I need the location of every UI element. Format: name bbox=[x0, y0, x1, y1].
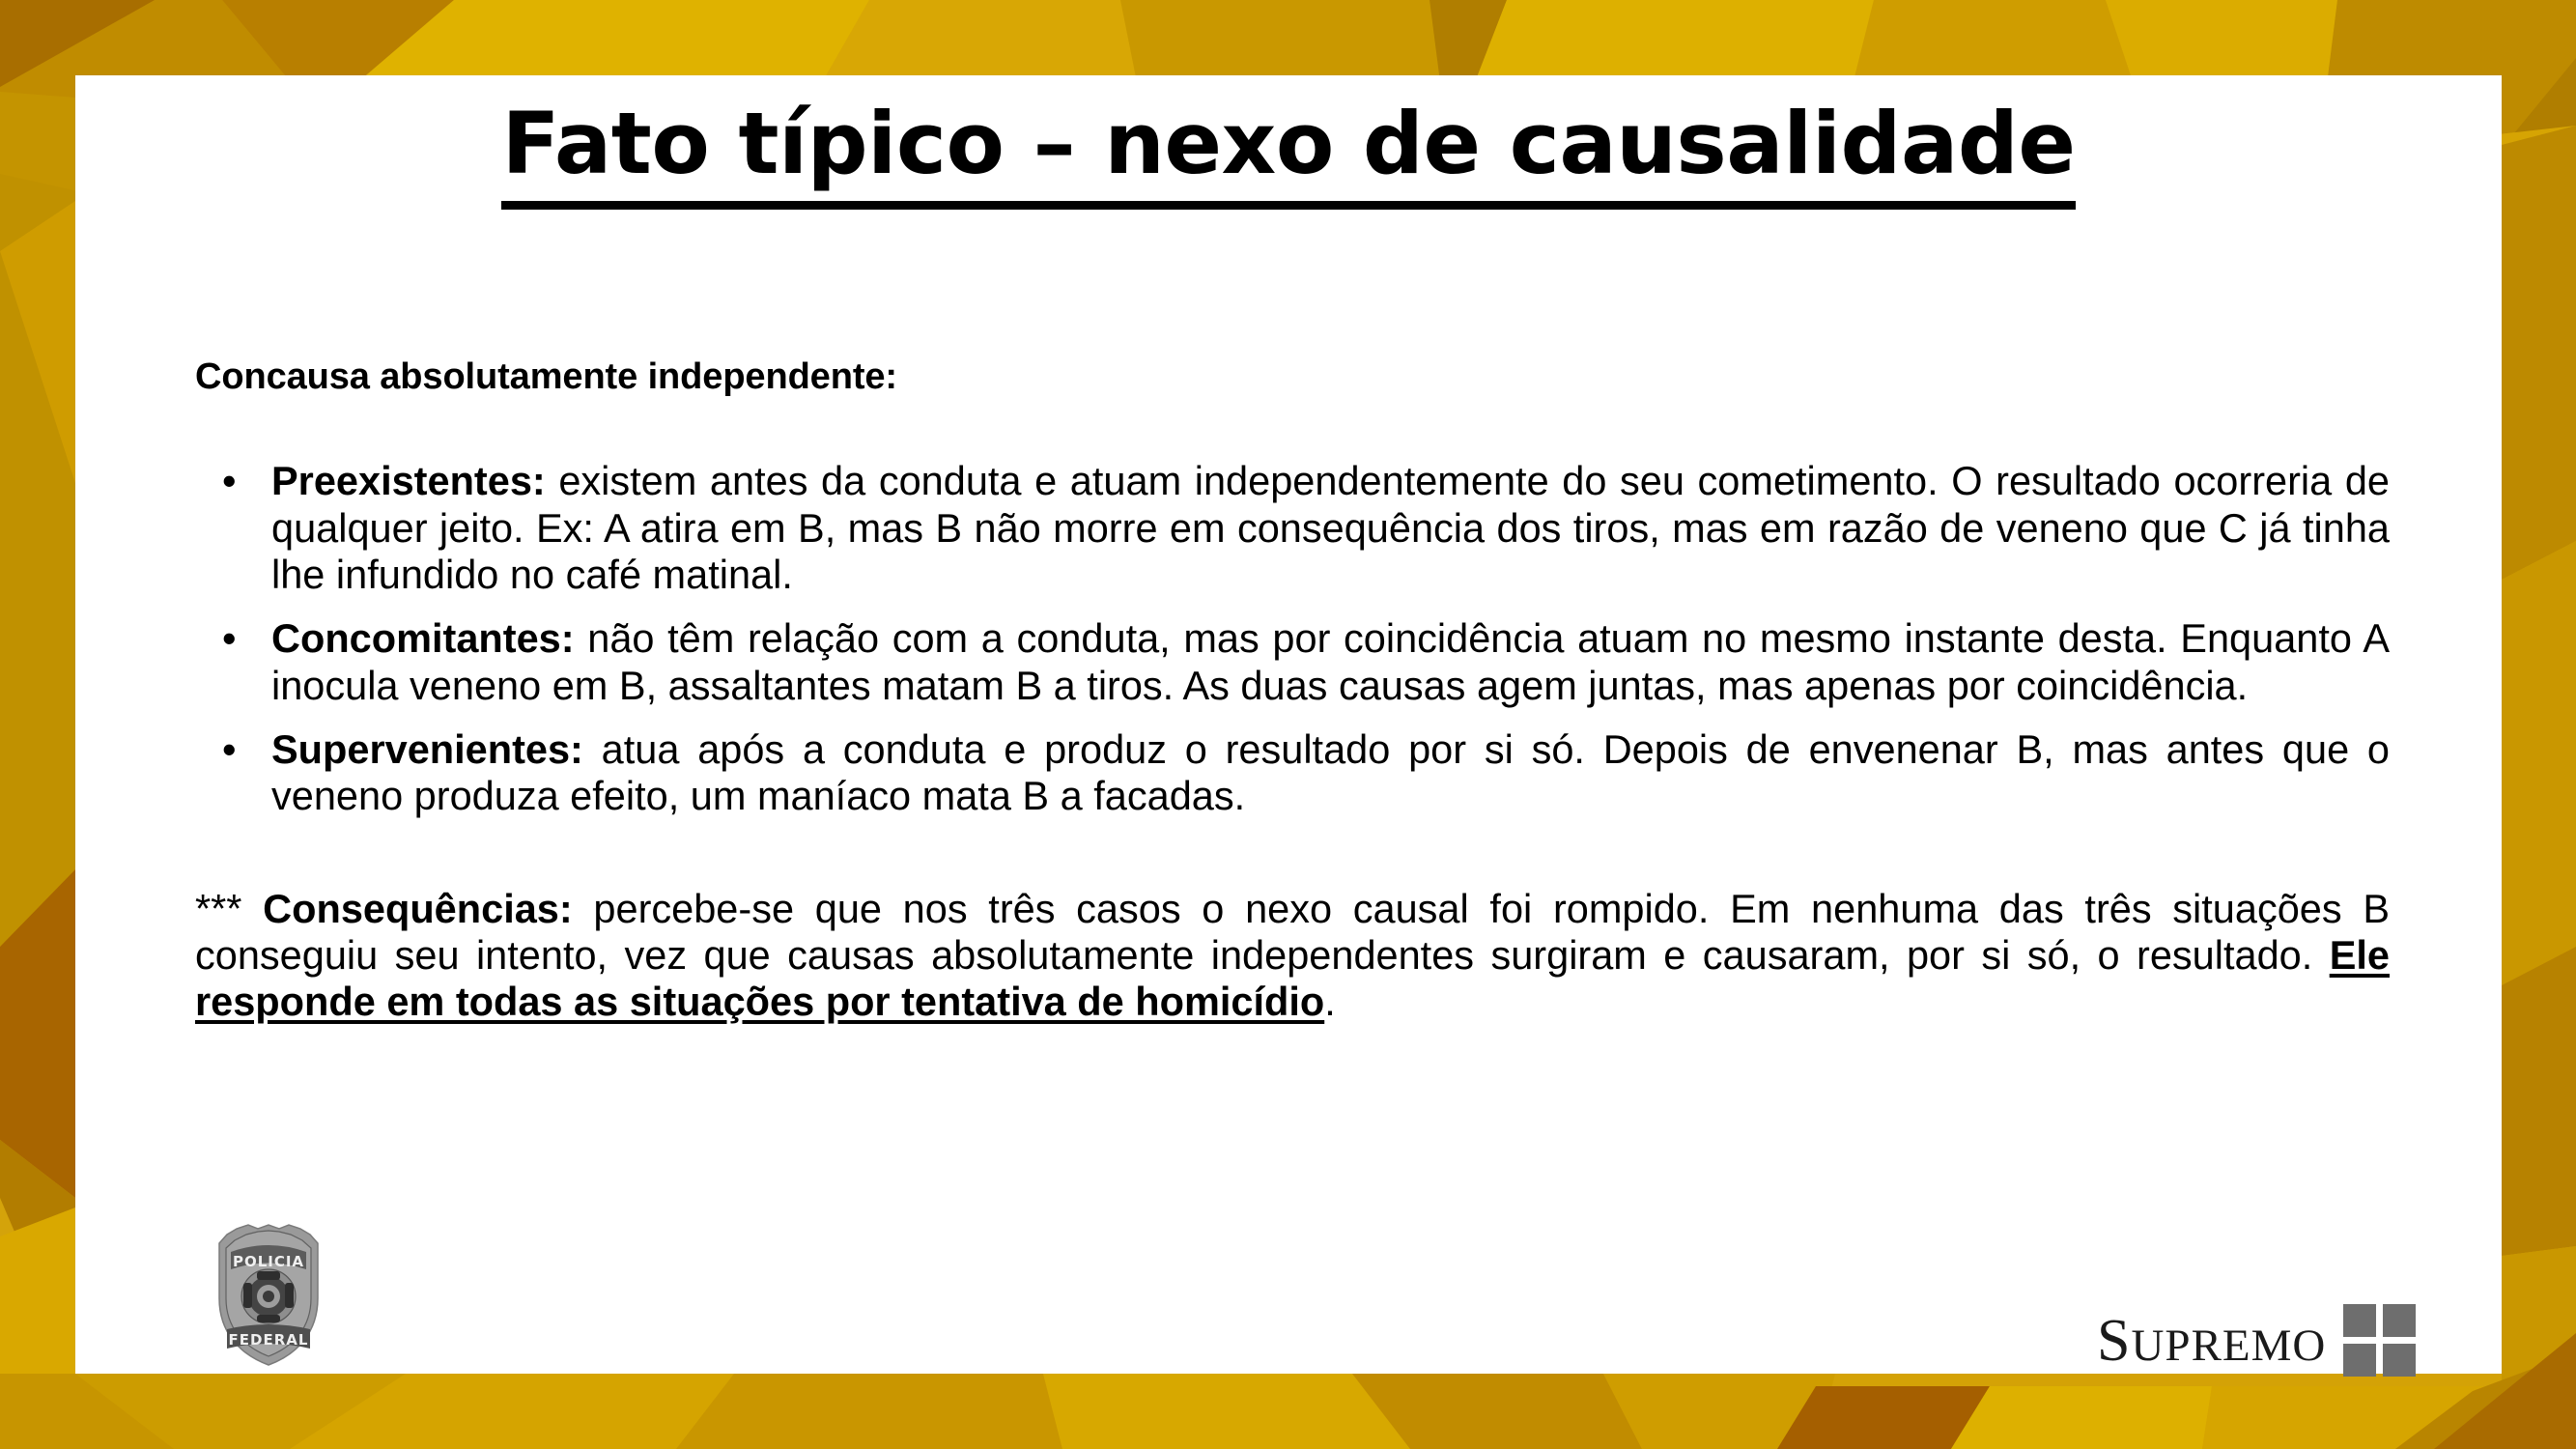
supremo-first-letter: S bbox=[2097, 1308, 2131, 1374]
bullet-point-icon: • bbox=[222, 458, 237, 504]
bullet-point-icon: • bbox=[222, 726, 237, 773]
list-item: •Supervenientes: atua após a conduta e p… bbox=[195, 726, 2390, 820]
grid-square-top-left bbox=[2343, 1304, 2376, 1337]
bullet-text: atua após a conduta e produz o resultado… bbox=[271, 726, 2390, 818]
page-title: Fato típico – nexo de causalidade bbox=[75, 97, 2502, 210]
four-square-grid-icon bbox=[2343, 1304, 2416, 1377]
policia-federal-badge-icon: POLICIA FEDERAL bbox=[213, 1223, 324, 1366]
bullet-term: Concomitantes: bbox=[271, 615, 575, 661]
concausa-bullet-list: •Preexistentes: existem antes da conduta… bbox=[195, 458, 2390, 819]
bullet-term: Supervenientes: bbox=[271, 726, 583, 772]
svg-text:POLICIA: POLICIA bbox=[233, 1253, 304, 1270]
supremo-wordmark: SUPREMO bbox=[2097, 1311, 2326, 1371]
page-title-text: Fato típico – nexo de causalidade bbox=[501, 97, 2075, 210]
list-item: •Preexistentes: existem antes da conduta… bbox=[195, 458, 2390, 598]
svg-text:FEDERAL: FEDERAL bbox=[229, 1331, 309, 1349]
bullet-text: existem antes da conduta e atuam indepen… bbox=[271, 458, 2390, 597]
grid-square-bottom-left bbox=[2343, 1344, 2376, 1377]
bullet-text: não têm relação com a conduta, mas por c… bbox=[271, 615, 2390, 707]
slide-content-card: Fato típico – nexo de causalidade Concau… bbox=[75, 75, 2502, 1374]
consequences-paragraph: *** Consequências: percebe-se que nos tr… bbox=[195, 886, 2390, 1026]
bullet-term: Preexistentes: bbox=[271, 458, 546, 503]
spacer bbox=[195, 398, 2390, 458]
list-item: •Concomitantes: não têm relação com a co… bbox=[195, 615, 2390, 709]
slide-root: Fato típico – nexo de causalidade Concau… bbox=[0, 0, 2576, 1449]
asterisks-marker: *** bbox=[195, 886, 263, 931]
lead-heading: Concausa absolutamente independente: bbox=[195, 355, 2390, 398]
supremo-logo: SUPREMO bbox=[2097, 1304, 2416, 1377]
consequences-term: Consequências: bbox=[263, 886, 573, 931]
slide-body: Concausa absolutamente independente: •Pr… bbox=[195, 355, 2390, 1026]
bullet-point-icon: • bbox=[222, 615, 237, 662]
grid-square-top-right bbox=[2383, 1304, 2416, 1337]
grid-square-bottom-right bbox=[2383, 1344, 2416, 1377]
consequences-text-end: . bbox=[1324, 979, 1336, 1024]
supremo-rest-letters: UPREMO bbox=[2131, 1321, 2326, 1371]
spacer bbox=[195, 820, 2390, 886]
